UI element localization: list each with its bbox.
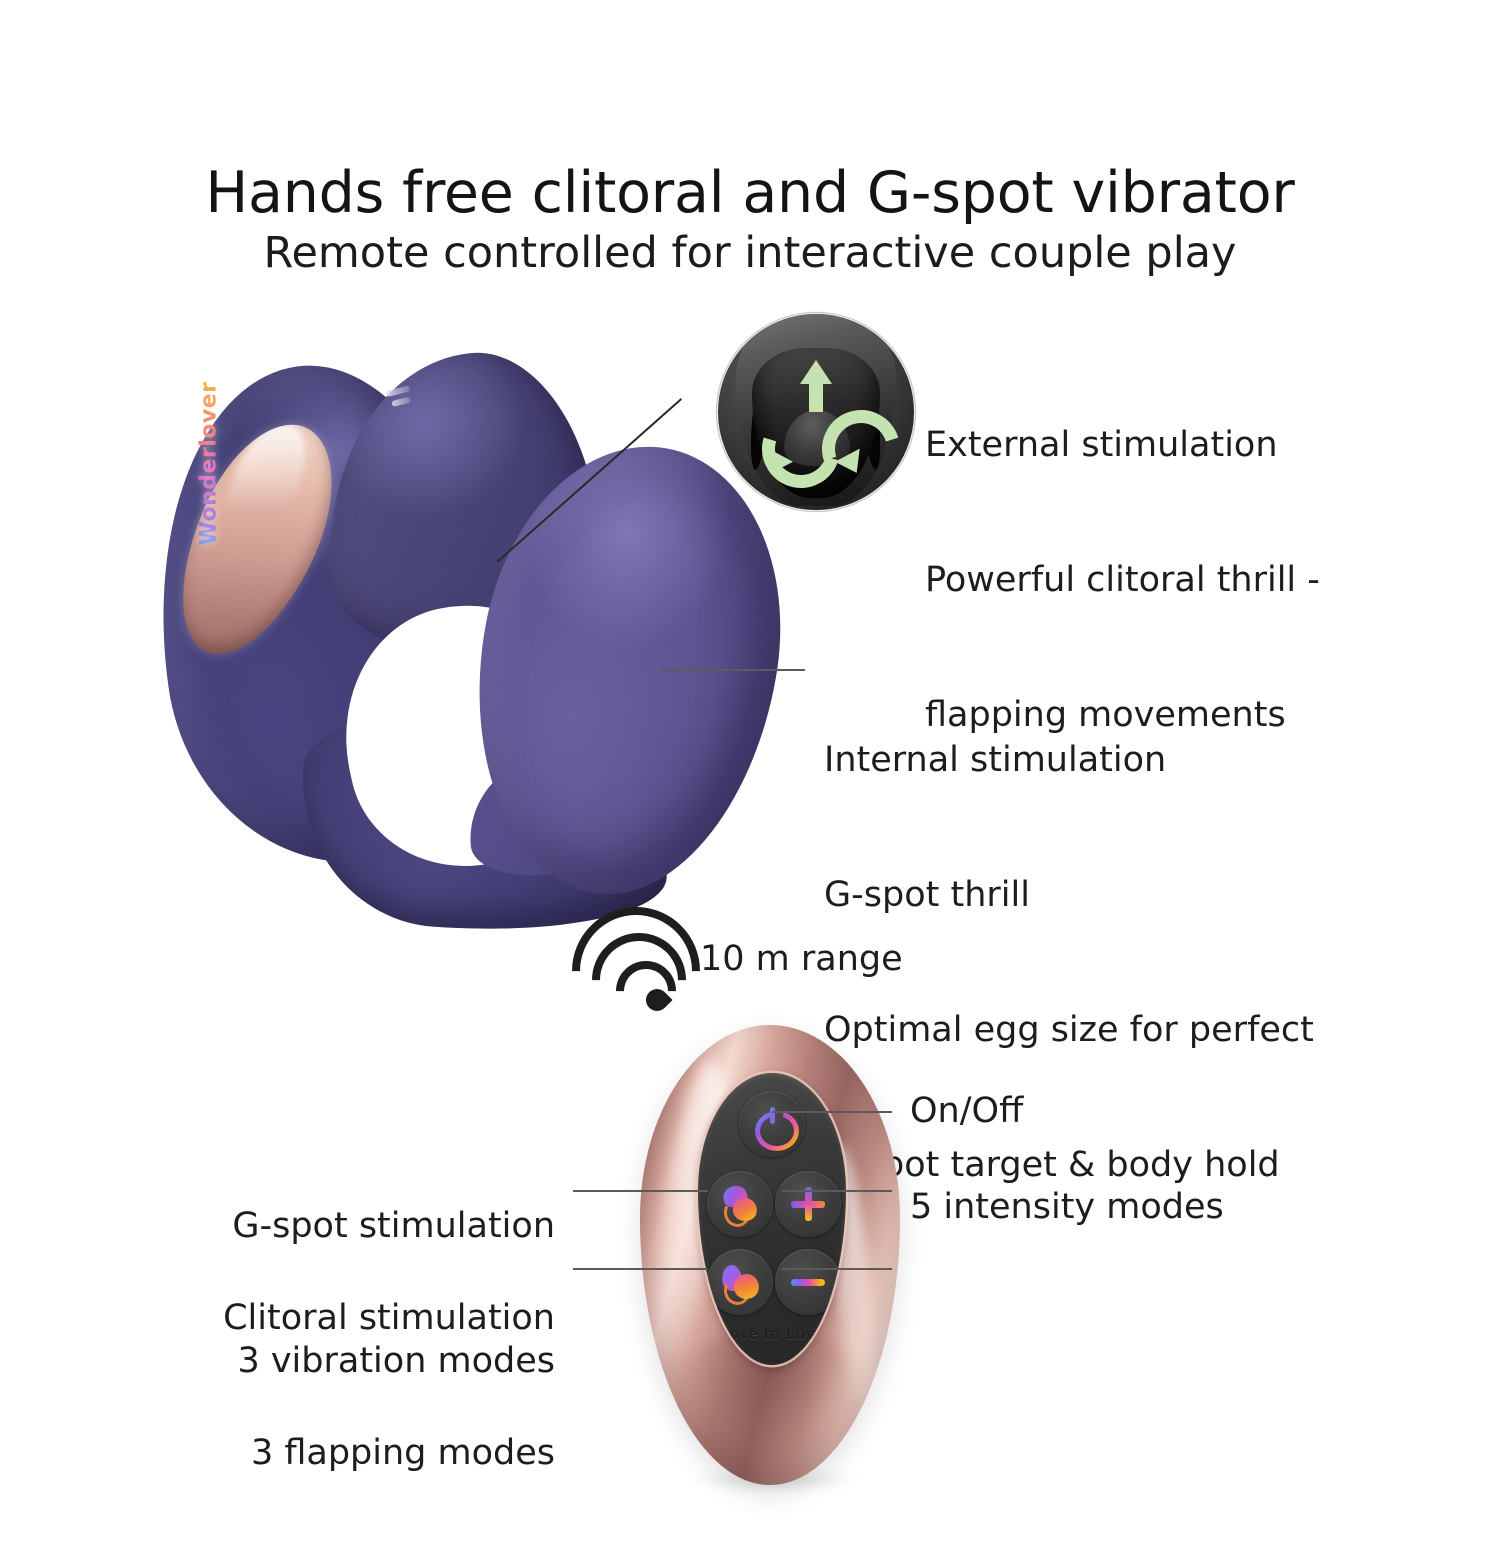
leader-line-internal: [660, 669, 805, 671]
remote-control: Love to Love: [640, 1025, 900, 1485]
power-button[interactable]: [739, 1091, 805, 1157]
clitoral-mode-button[interactable]: [707, 1249, 773, 1315]
leader-line-power: [772, 1111, 892, 1113]
external-line-1: External stimulation: [925, 423, 1320, 468]
leader-line-gspot: [573, 1190, 708, 1192]
gspot-blob-icon: [721, 1185, 759, 1223]
leader-line-intensity-up: [782, 1190, 892, 1192]
label-on-off: On/Off: [910, 1089, 1023, 1134]
charging-pin: [386, 385, 411, 397]
charging-pin: [391, 397, 411, 407]
intensity-up-button[interactable]: [775, 1171, 841, 1237]
intensity-down-button[interactable]: [775, 1249, 841, 1315]
infographic-canvas: Hands free clitoral and G-spot vibrator …: [0, 0, 1500, 1500]
product-illustration: Wonderlover Love to Love: [150, 355, 790, 955]
leader-line-clitoral: [573, 1268, 708, 1270]
plus-icon: [791, 1187, 825, 1221]
wifi-signal-icon: [570, 905, 700, 1020]
minus-icon: [791, 1279, 825, 1286]
clitoral-blob-icon: [721, 1263, 759, 1301]
range-label: 10 m range: [700, 937, 903, 982]
leader-line-intensity-down: [782, 1268, 892, 1270]
label-clitoral-line-2: 3 flapping modes: [180, 1431, 555, 1476]
gspot-mode-button[interactable]: [707, 1171, 773, 1237]
page-subtitle: Remote controlled for interactive couple…: [0, 232, 1500, 275]
label-clitoral-line-1: Clitoral stimulation: [180, 1296, 555, 1341]
brand-wordmark: Wonderlover: [197, 359, 222, 569]
internal-line-1: Internal stimulation: [824, 738, 1314, 783]
internal-line-2: G-spot thrill: [824, 873, 1314, 918]
remote-brand-label: Love to Love: [698, 1325, 846, 1343]
label-clitoral-stimulation: Clitoral stimulation 3 flapping modes: [180, 1206, 555, 1566]
external-line-2: Powerful clitoral thrill -: [925, 558, 1320, 603]
page-title: Hands free clitoral and G-spot vibrator: [0, 165, 1500, 222]
label-intensity-modes: 5 intensity modes: [910, 1185, 1224, 1230]
external-detail-callout: [717, 313, 915, 511]
